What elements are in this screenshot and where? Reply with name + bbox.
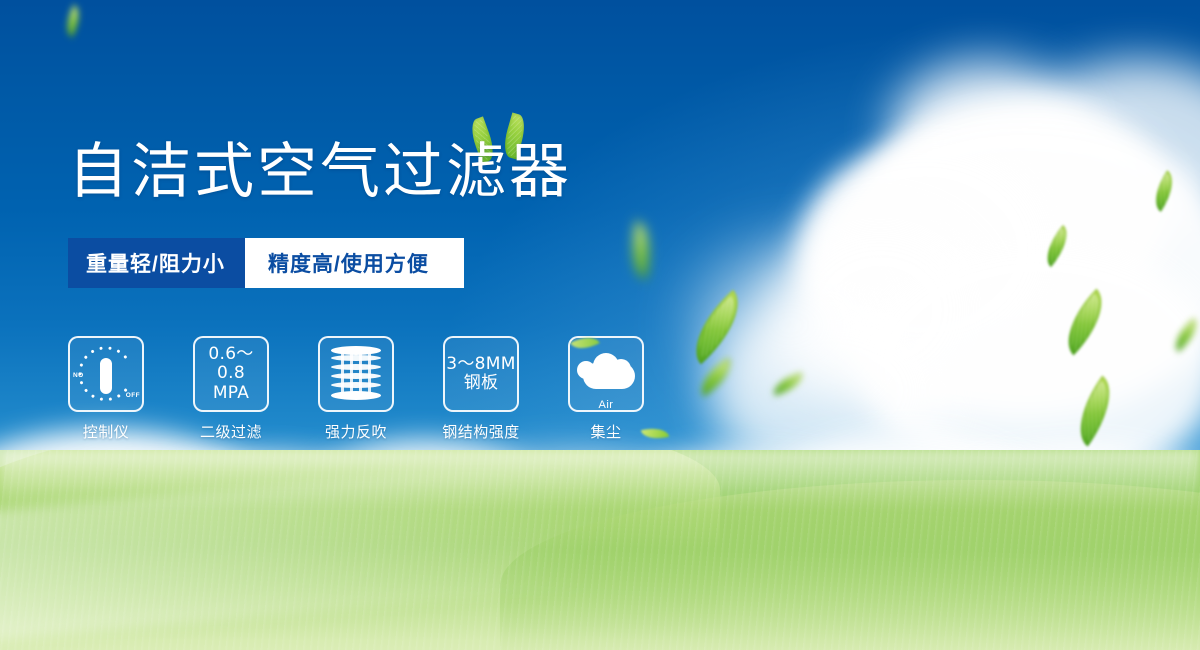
- feature-item-steel[interactable]: 3～8MM 钢板 钢结构强度: [443, 336, 519, 442]
- subtitle-left-panel: 重量轻/阻力小: [68, 238, 245, 288]
- banner-stage: 自洁式空气过滤器 重量轻/阻力小 精度高/使用方便 NO OFF: [0, 0, 1200, 650]
- dial-needle-icon: [100, 358, 112, 394]
- pressure-text-icon: 0.6～0.8 MPA: [195, 345, 267, 402]
- feature-label: 钢结构强度: [442, 421, 520, 442]
- feature-icon-box: 3～8MM 钢板: [443, 336, 519, 412]
- feature-label: 集尘: [590, 421, 621, 442]
- feature-icon-box: 0.6～0.8 MPA: [193, 336, 269, 412]
- feature-item-control[interactable]: NO OFF: [68, 336, 144, 442]
- steel-plate-text-icon: 3～8MM 钢板: [446, 355, 515, 393]
- leaf-icon: [641, 424, 669, 443]
- coil-filter-icon: [331, 346, 381, 402]
- feature-label: 控制仪: [83, 421, 130, 442]
- air-label: Air: [575, 399, 637, 411]
- feature-item-pressure[interactable]: 0.6～0.8 MPA 二级过滤: [193, 336, 269, 442]
- steel-thickness: 3～8MM: [446, 355, 515, 374]
- feature-item-dust[interactable]: Air 集尘: [568, 336, 644, 442]
- dial-off-label: OFF: [126, 392, 140, 399]
- feature-icon-box: Air: [568, 336, 644, 412]
- feature-icon-box: [318, 336, 394, 412]
- feature-icon-box: NO OFF: [68, 336, 144, 412]
- feature-label: 二级过滤: [200, 421, 262, 442]
- pressure-value: 0.6～0.8: [195, 345, 267, 383]
- cloud-body: [583, 363, 635, 389]
- subtitle-strip: 重量轻/阻力小 精度高/使用方便: [68, 238, 464, 288]
- banner-content: 自洁式空气过滤器 重量轻/阻力小 精度高/使用方便 NO OFF: [0, 0, 1200, 650]
- steel-material: 钢板: [446, 374, 515, 393]
- subtitle-right-text: 精度高/使用方便: [268, 248, 429, 278]
- feature-label: 强力反吹: [325, 421, 387, 442]
- banner-title: 自洁式空气过滤器: [68, 142, 572, 202]
- subtitle-right-panel: 精度高/使用方便: [223, 238, 464, 288]
- pressure-unit: MPA: [195, 384, 267, 403]
- feature-row: NO OFF: [68, 336, 644, 442]
- control-dial-icon: NO OFF: [74, 342, 138, 406]
- cloud-air-icon: Air: [575, 349, 637, 399]
- feature-item-blowback[interactable]: 强力反吹: [318, 336, 394, 442]
